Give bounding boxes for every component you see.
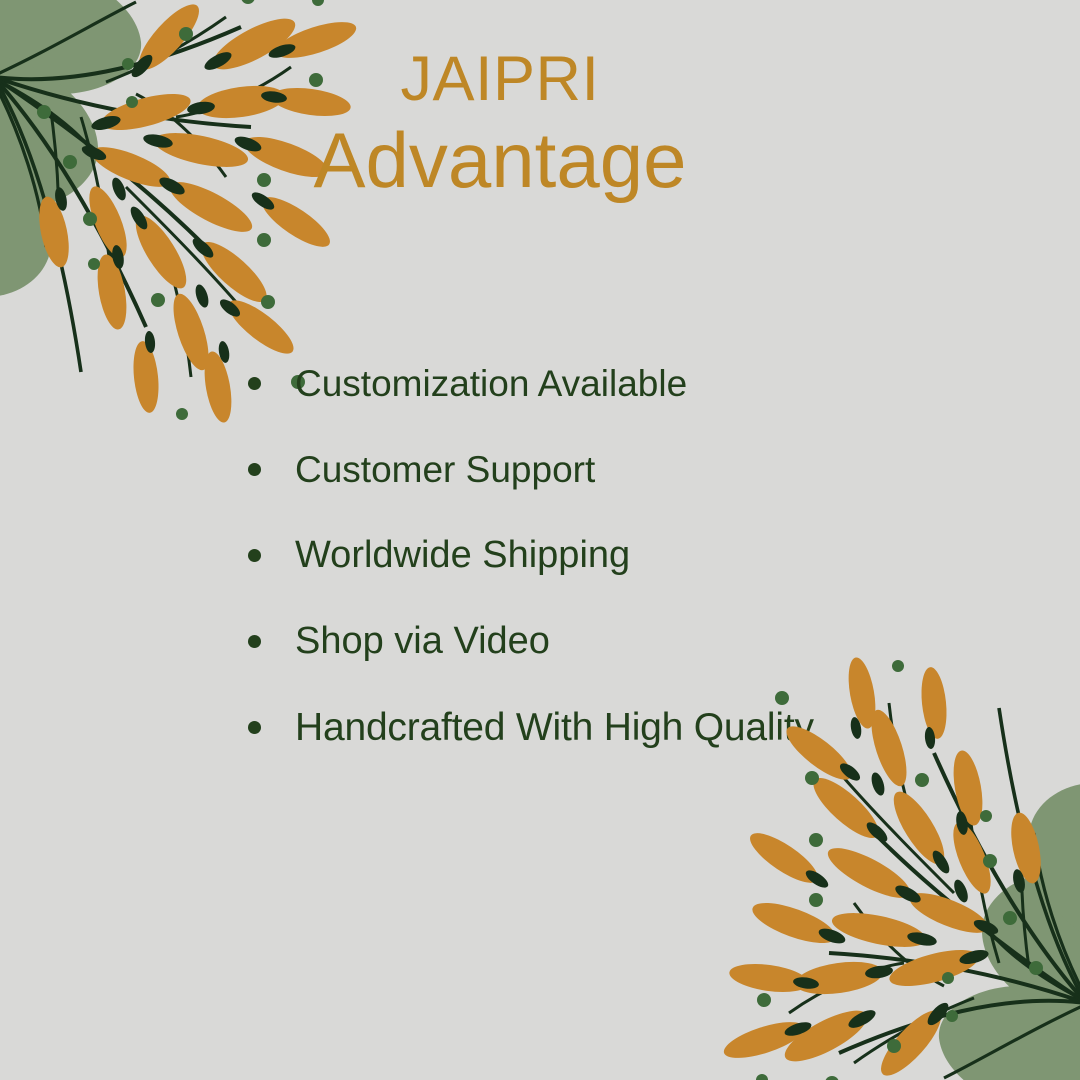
list-item: Handcrafted With High Quality	[248, 684, 1048, 770]
brand-name: JAIPRI	[295, 48, 705, 111]
list-item: Customization Available	[248, 340, 1048, 426]
list-item: Worldwide Shipping	[248, 512, 1048, 598]
list-item: Customer Support	[248, 426, 1048, 512]
list-item-label: Customization Available	[295, 365, 687, 402]
list-item: Shop via Video	[248, 598, 1048, 684]
list-item-label: Shop via Video	[295, 622, 550, 660]
bullet-icon	[248, 463, 261, 476]
bullet-icon	[248, 377, 261, 390]
advantage-list: Customization Available Customer Support…	[248, 340, 1048, 770]
poster-canvas: JAIPRI Advantage Customization Available…	[0, 0, 1080, 1080]
list-item-label: Worldwide Shipping	[295, 536, 630, 574]
bullet-icon	[248, 549, 261, 562]
list-item-label: Handcrafted With High Quality	[295, 708, 814, 747]
bullet-icon	[248, 635, 261, 648]
poster-title: JAIPRI Advantage	[295, 48, 705, 211]
title-subline: Advantage	[295, 111, 705, 211]
list-item-label: Customer Support	[295, 451, 595, 488]
bullet-icon	[248, 721, 261, 734]
